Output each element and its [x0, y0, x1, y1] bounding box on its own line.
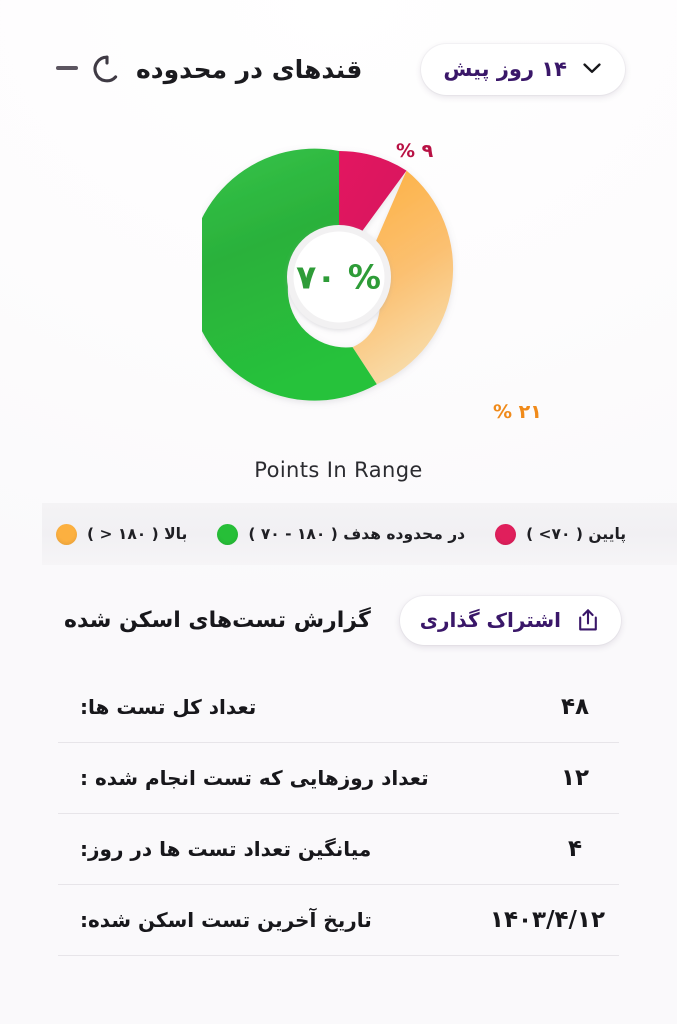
donut-chart-area: ۷۰ % ۹ % ۲۱ % Points In Range: [0, 118, 677, 498]
donut-label-below: ۹ %: [396, 140, 433, 162]
header-title-group: قندهای در محدوده: [56, 54, 362, 84]
legend-dot-above: [56, 524, 77, 545]
legend-item-in-range: در محدوده هدف ( ۱۸۰ - ۷۰ ): [217, 524, 465, 545]
table-row: تاریخ آخرین تست اسکن شده: ۱۴۰۳/۴/۱۲: [58, 885, 619, 956]
donut-chart: ۷۰ %: [202, 140, 476, 414]
chart-legend: بالا ( ۱۸۰ < ) در محدوده هدف ( ۱۸۰ - ۷۰ …: [42, 503, 677, 565]
donut-chart-svg: [202, 140, 476, 414]
stat-label: تاریخ آخرین تست اسکن شده:: [80, 908, 372, 932]
date-range-dropdown[interactable]: ۱۴ روز پیش: [421, 44, 625, 95]
table-row: تعداد روزهایی که تست انجام شده : ۱۲: [58, 743, 619, 814]
stat-label: تعداد روزهایی که تست انجام شده :: [80, 766, 429, 790]
legend-item-below: پایین ( ۷۰> ): [495, 524, 626, 545]
dash-icon: [56, 66, 78, 70]
legend-label-in-range: در محدوده هدف ( ۱۸۰ - ۷۰ ): [248, 525, 465, 543]
donut-chart-icon: [92, 54, 122, 84]
scanned-tests-report-header: گزارش تست‌های اسکن شده اشتراک گذاری: [0, 586, 677, 654]
glucose-in-range-screen: قندهای در محدوده ۱۴ روز پیش: [0, 0, 677, 1024]
stat-label: تعداد کل تست ها:: [80, 695, 256, 719]
legend-label-below: پایین ( ۷۰> ): [526, 525, 626, 543]
stat-value: ۱۲: [545, 765, 605, 791]
legend-dot-below: [495, 524, 516, 545]
page-title: قندهای در محدوده: [136, 55, 362, 84]
scanned-tests-stats-table: تعداد کل تست ها: ۴۸ تعداد روزهایی که تست…: [58, 672, 619, 956]
date-range-label: ۱۴ روز پیش: [443, 57, 567, 81]
donut-label-above: ۲۱ %: [493, 401, 542, 423]
stat-value: ۱۴۰۳/۴/۱۲: [490, 907, 605, 933]
stat-value: ۴۸: [545, 694, 605, 720]
chart-caption: Points In Range: [0, 458, 677, 482]
donut-hole: [293, 232, 384, 323]
legend-label-above: بالا ( ۱۸۰ < ): [87, 525, 187, 543]
share-upload-icon: [577, 608, 599, 632]
report-title: گزارش تست‌های اسکن شده: [64, 608, 371, 633]
share-button-label: اشتراک گذاری: [420, 608, 561, 632]
legend-item-above: بالا ( ۱۸۰ < ): [56, 524, 187, 545]
share-button[interactable]: اشتراک گذاری: [400, 596, 621, 645]
stat-label: میانگین تعداد تست ها در روز:: [80, 837, 371, 861]
chevron-down-icon: [583, 63, 601, 74]
table-row: میانگین تعداد تست ها در روز: ۴: [58, 814, 619, 885]
stat-value: ۴: [545, 836, 605, 862]
table-row: تعداد کل تست ها: ۴۸: [58, 672, 619, 743]
legend-dot-in-range: [217, 524, 238, 545]
page-header: قندهای در محدوده ۱۴ روز پیش: [0, 38, 677, 100]
